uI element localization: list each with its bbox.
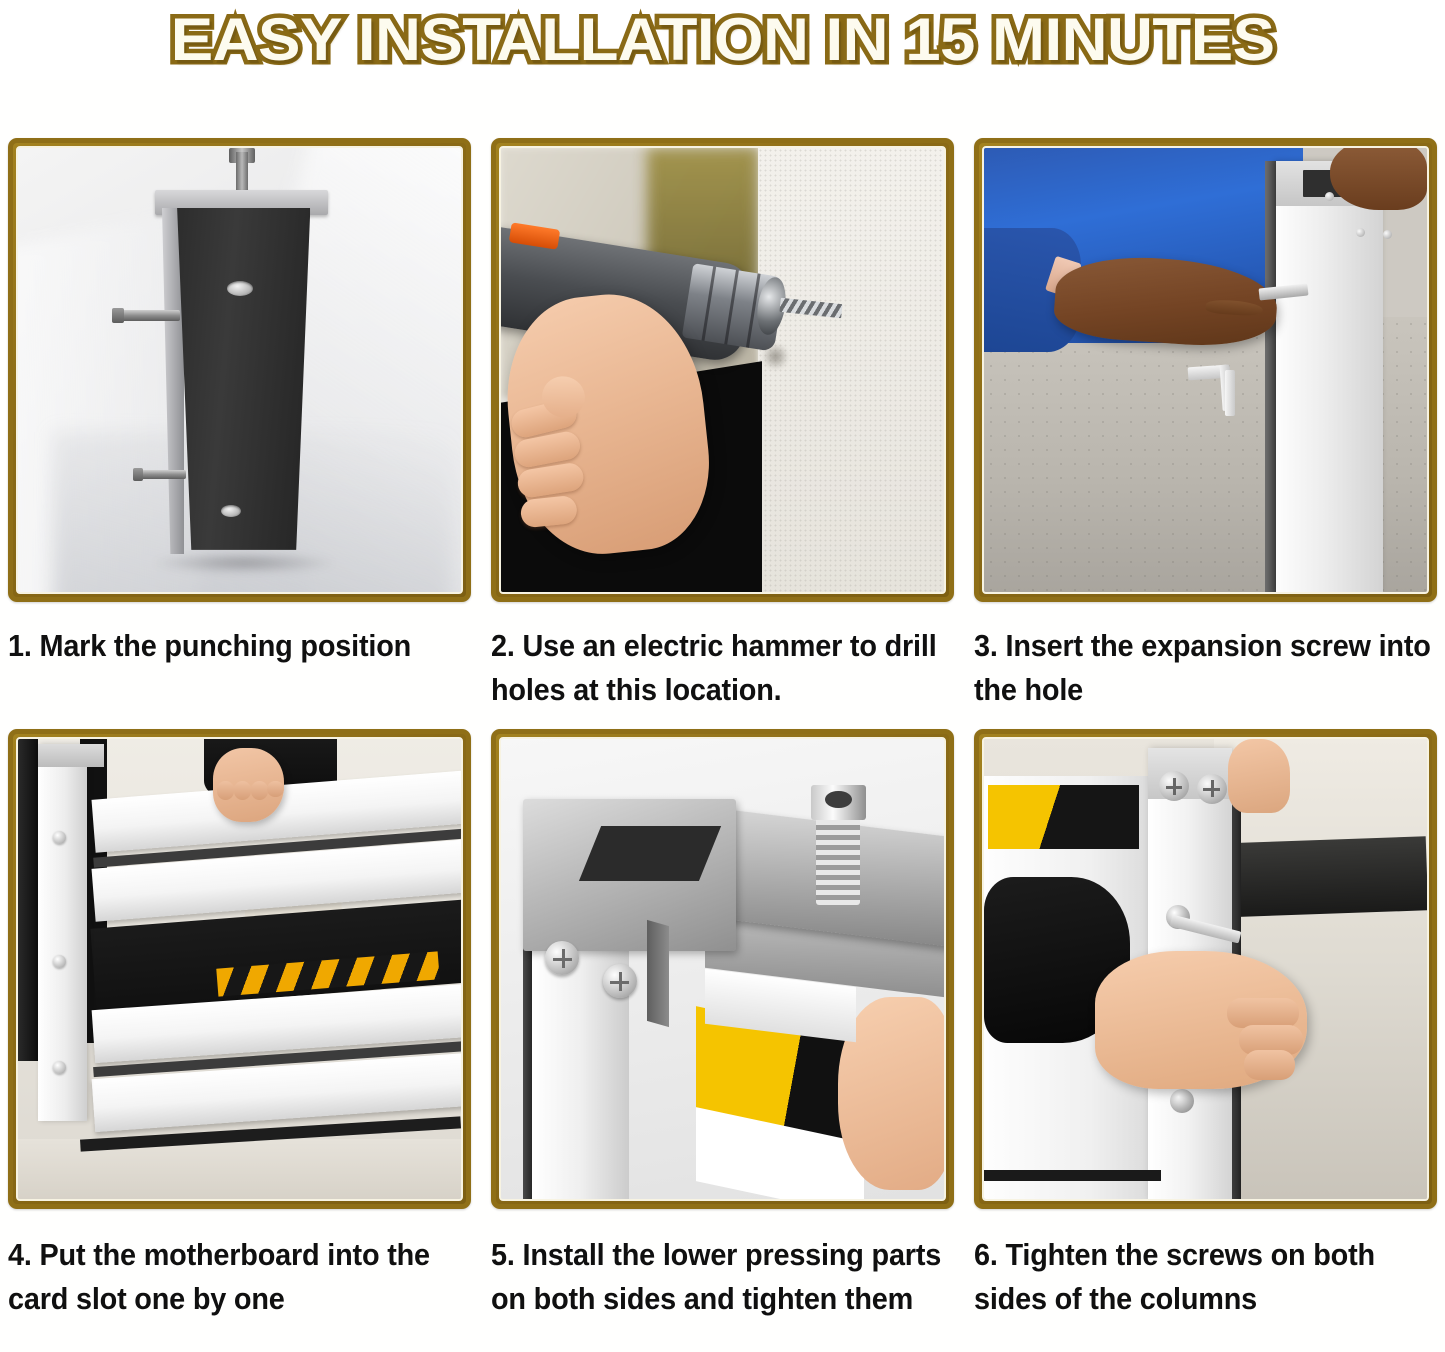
bracket-lip (647, 920, 669, 1028)
step-photo-1 (16, 146, 463, 594)
hex-key-icon (1187, 364, 1228, 380)
side-bolt-lower (138, 470, 187, 479)
panel-base-strip (984, 1170, 1161, 1181)
aluminium-column (1276, 161, 1382, 592)
title-banner: EASY INSTALLATION IN 15 MINUTES (0, 0, 1445, 80)
step-card-2: 2. Use an electric hammer to drill holes… (491, 138, 954, 729)
step-caption-5: 5. Install the lower pressing parts on b… (491, 1233, 954, 1321)
hazard-stripe-corner (988, 785, 1139, 849)
step-photo-2 (499, 146, 946, 594)
steadying-hand (1228, 739, 1290, 813)
bolt-cap-upper (112, 308, 124, 323)
step-photo-3 (982, 146, 1429, 594)
step-caption-2: 2. Use an electric hammer to drill holes… (491, 624, 954, 712)
scene-marking-template (18, 148, 461, 592)
template-shadow (151, 552, 337, 574)
step-photo-4 (16, 737, 463, 1201)
template-hole-upper (227, 281, 253, 296)
template-body (169, 208, 311, 550)
step-card-3: 3. Insert the expansion screw into the h… (974, 138, 1437, 729)
hex-key-leg (1225, 370, 1235, 416)
side-bolt-upper (118, 310, 180, 321)
column-rivet-1 (1356, 228, 1365, 237)
step-photo-frame-3 (974, 138, 1437, 602)
scene-expansion-screw (984, 148, 1427, 592)
steps-grid: 1. Mark the punching position (8, 138, 1437, 1338)
step-photo-frame-5 (491, 729, 954, 1209)
template-hole-lower (221, 505, 241, 517)
step-photo-frame-2 (491, 138, 954, 602)
cap-phillips-screw-2 (1197, 774, 1227, 804)
tightening-hand (1095, 951, 1308, 1089)
page-title: EASY INSTALLATION IN 15 MINUTES (171, 9, 1275, 71)
step-card-1: 1. Mark the punching position (8, 138, 471, 729)
worker-fingers (1205, 299, 1263, 317)
top-bolt (236, 152, 248, 192)
scene-drilling-wall (501, 148, 944, 592)
step-card-6: 6. Tighten the screws on both sides of t… (974, 729, 1437, 1338)
scene-card-slot (18, 739, 461, 1199)
step-photo-5 (499, 737, 946, 1201)
installation-infographic: EASY INSTALLATION IN 15 MINUTES (0, 0, 1445, 1352)
column-side-screw-lower (1170, 1089, 1194, 1113)
step-caption-1: 1. Mark the punching position (8, 624, 471, 668)
finger-4 (519, 494, 578, 528)
clamp-bolt-shaft (816, 808, 860, 905)
step-card-5: 5. Install the lower pressing parts on b… (491, 729, 954, 1338)
step-photo-frame-6 (974, 729, 1437, 1209)
clamp-bolt-head (811, 785, 866, 820)
bolt-cap-lower (133, 468, 143, 481)
step-photo-frame-4 (8, 729, 471, 1209)
wall-surface (758, 148, 944, 592)
step-photo-6 (982, 737, 1429, 1201)
left-column-cap (38, 744, 104, 767)
drill-dust (762, 343, 789, 370)
bracket-cutout (578, 826, 720, 881)
scene-pressing-parts (501, 739, 944, 1199)
step-card-4: 4. Put the motherboard into the card slo… (8, 729, 471, 1338)
cap-phillips-screw-1 (1159, 771, 1189, 801)
step-caption-4: 4. Put the motherboard into the card slo… (8, 1233, 471, 1321)
step-photo-frame-1 (8, 138, 471, 602)
step-caption-6: 6. Tighten the screws on both sides of t… (974, 1233, 1437, 1321)
installing-hand (213, 748, 284, 822)
column-rivet-2 (1383, 230, 1392, 239)
step-caption-3: 3. Insert the expansion screw into the h… (974, 624, 1437, 712)
wall-skirting (1213, 836, 1427, 917)
left-black-edge (18, 739, 38, 1061)
scene-tighten-screws (984, 739, 1427, 1199)
